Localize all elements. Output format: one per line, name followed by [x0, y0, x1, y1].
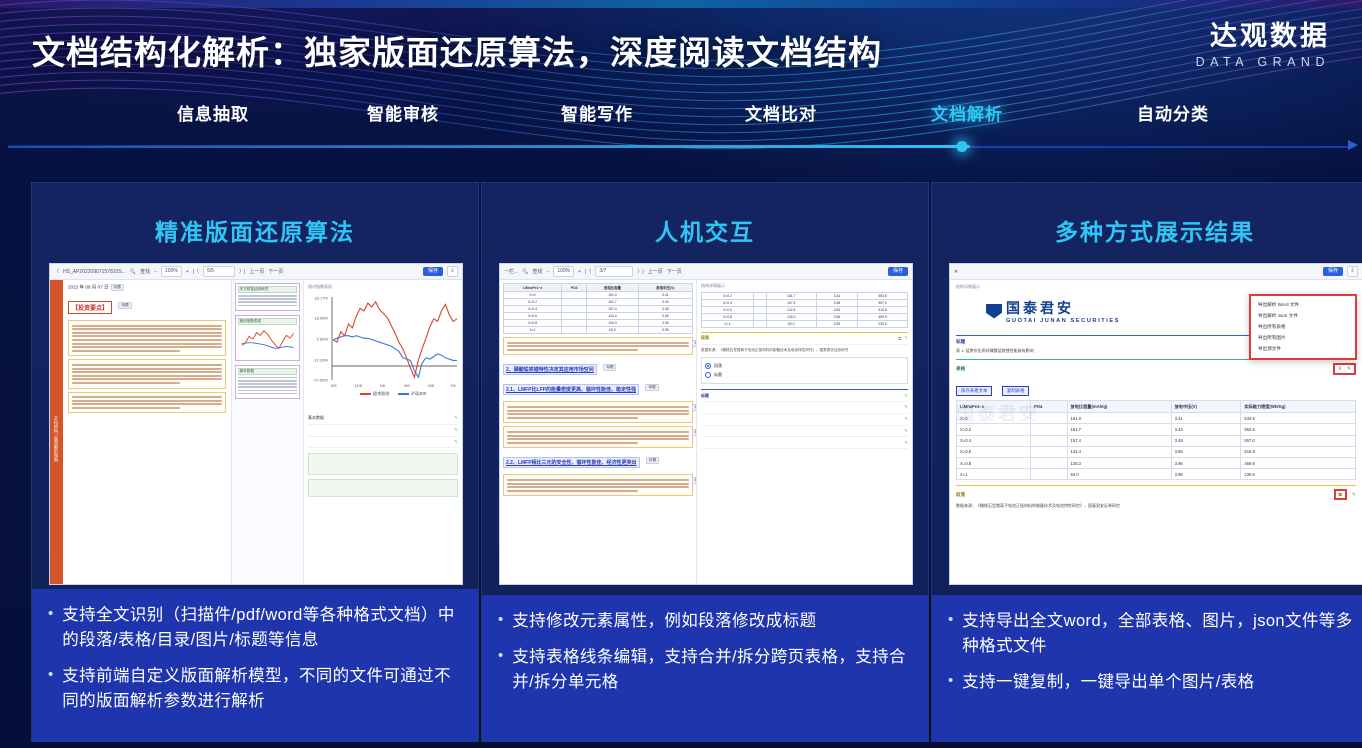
x-tick-3: 3/6 — [404, 383, 410, 388]
section-paragraph-body: 数据来源：《橄榄石型锂离子电池正极材料的制备技术及电池特性研究》，国泰君安证券研… — [956, 503, 1356, 509]
feature-card-3: 多种方式展示结果 ✕ 保存 ⇩ 国泰君安 结构详情展示 国泰君安 GUOTAI … — [931, 182, 1362, 742]
zoom-level-select[interactable]: 100% — [161, 266, 182, 277]
first-page-button[interactable]: |〈 — [193, 268, 199, 275]
bullet-dot-icon: • — [48, 664, 53, 714]
table-row[interactable]: X=0161.03.41534.9 — [957, 413, 1356, 424]
download-icon[interactable]: ⇩ — [1347, 266, 1358, 277]
card-2-screenshot: 一栏... 🔍 查找 − 100% + |〈 3/7 〉| 上一页 下一页 保存… — [499, 263, 913, 585]
element-tag-title[interactable]: 标题 — [111, 284, 124, 291]
result-row-2[interactable]: ✎ — [308, 425, 458, 437]
search-label[interactable]: 查找 — [140, 268, 150, 275]
table-cell-3-1 — [1030, 446, 1067, 457]
x-tick-4: 5/6 — [428, 383, 434, 388]
document-editor-panel: LiMnxFe1−xPO4放电比容量放电中压(V) X=0161.03.41 X… — [500, 280, 697, 585]
document-page-panel: 2022 年 09 月 07 日标题 【投资要点】 标题 — [63, 280, 232, 585]
next-page-button[interactable]: 下一页 — [268, 268, 283, 275]
structure-mini-table[interactable]: X=0.2161.73.44553.5 X=0.4157.43.48557.0 … — [701, 292, 908, 328]
section-table-label: 表格 — [956, 366, 965, 372]
element-tag-title-2[interactable]: 标题 — [118, 302, 131, 309]
table-cell-1-2: 161.7 — [1067, 424, 1171, 435]
table-cell-1-0: X=0.2 — [957, 424, 1031, 435]
table-cell-3-0: X=0.6 — [957, 446, 1031, 457]
element-row-6[interactable]: ✎ — [701, 426, 908, 438]
research-box-title: 东方财富证券研究 — [238, 286, 297, 293]
relative-index-box[interactable]: 相对指数表现 — [235, 315, 300, 361]
edit-icon-5[interactable]: ✎ — [904, 428, 908, 434]
result-row-3[interactable]: ✎ — [308, 437, 458, 449]
view-mode-label[interactable]: 一栏... — [504, 268, 518, 275]
card-3-screenshot: ✕ 保存 ⇩ 国泰君安 结构详情展示 国泰君安 GUOTAI JUNAN SEC… — [949, 263, 1362, 585]
page-title: 文档结构化解析：独家版面还原算法，深度阅读文档结构 — [32, 26, 882, 74]
table-cell-0-4: 534.9 — [1241, 413, 1356, 424]
zoom-in-button[interactable]: + — [578, 269, 581, 275]
table-cell-3-3: 3.65 — [1171, 446, 1241, 457]
result-table-col-0: LiMnxFe1−x — [957, 401, 1031, 413]
element-row-7[interactable]: ✎ — [701, 437, 908, 449]
bullet-dot-icon: • — [948, 670, 953, 695]
doc-heading-1[interactable]: 2.1、LMFP比LFP的能量密度更高、循环性能佳、稳定性强 — [503, 384, 639, 395]
doc-paragraph-0[interactable]: 段落 — [503, 337, 693, 355]
table-cell-5-3: 3.95 — [1171, 469, 1241, 480]
result-table-header-row: LiMnxFe1−xPO4放电比容量(mAh/g)放电中压(V)实际能力密度(W… — [957, 401, 1356, 413]
doc-paragraph-3[interactable]: 段落 — [503, 474, 693, 496]
legend-item-1: 沪深300 — [398, 391, 426, 397]
relative-index-title: 相对指数表现 — [238, 318, 297, 325]
structure-result-panel: 相对指数表现 33.17% 18.00% 2.83% -12.33% -27.5… — [304, 280, 462, 585]
table-cell-2-3: 3.48 — [1171, 435, 1241, 446]
brand-cn: 国泰君安 — [1006, 298, 1120, 318]
filename-label: HS_AP20220907157810S... — [63, 269, 126, 275]
basic-data-box[interactable]: 基本数据 — [235, 365, 300, 399]
table-cell-2-4: 557.0 — [1241, 435, 1356, 446]
edit-icon[interactable]: ✎ — [454, 415, 458, 421]
table-cell-3-2: 142.4 — [1067, 446, 1171, 457]
table-cell-0-3: 3.41 — [1171, 413, 1241, 424]
document-mini-table[interactable]: LiMnxFe1−xPO4放电比容量放电中压(V) X=0161.03.41 X… — [503, 283, 693, 334]
menu-item-export-word[interactable]: 导出解析 Word 文件 — [1251, 299, 1355, 310]
radio-option-para[interactable]: 段落 — [705, 363, 904, 369]
result-row-1[interactable]: 基本数据✎ — [308, 413, 458, 425]
card-2-bullet-1: • 支持表格线条编辑，支持合并/拆分跨页表格，支持合并/拆分单元格 — [498, 645, 912, 695]
x-tick-1: 11/6 — [354, 383, 362, 388]
element-row-para[interactable]: 段落 ⧉ ✎ — [701, 332, 908, 345]
table-cell-5-0: X=1 — [957, 469, 1031, 480]
element-type-radio-group[interactable]: 段落 标题 — [701, 357, 908, 385]
card-2-bullets: • 支持修改元素属性，例如段落修改成标题 • 支持表格线条编辑，支持合并/拆分跨… — [482, 595, 928, 741]
table-cell-1-4: 553.5 — [1241, 424, 1356, 435]
table-cell-2-2: 157.4 — [1067, 435, 1171, 446]
edit-icon-6[interactable]: ✎ — [904, 440, 908, 446]
result-table-col-2: 放电比容量(mAh/g) — [1067, 401, 1171, 413]
timeline-active-dot[interactable] — [957, 141, 968, 152]
zoom-out-button[interactable]: − — [154, 269, 157, 275]
table-cell-4-2: 126.3 — [1067, 457, 1171, 468]
element-tag-heading-3[interactable]: 标题 — [646, 457, 659, 464]
edit-icon-3[interactable]: ✎ — [454, 439, 458, 445]
structure-panel-label-2: 结构详情展示 — [701, 283, 908, 289]
timeline-arrow-icon — [1348, 140, 1358, 150]
nav-item-4-active[interactable]: 文档解析 — [931, 100, 1003, 125]
radio-dot-icon-on — [705, 363, 711, 369]
slide-root: 文档结构化解析：独家版面还原算法，深度阅读文档结构 达观数据 DATA GRAN… — [0, 0, 1362, 748]
table-row[interactable]: X=0.8126.33.96459.9 — [957, 457, 1356, 468]
document-date: 2022 年 09 月 07 日标题 — [68, 284, 226, 291]
table-cell-4-1 — [1030, 457, 1067, 468]
card-1-toolbar: 〈 HS_AP20220907157810S... 🔍 查找 − 100% + … — [50, 264, 462, 280]
nav-item-1[interactable]: 智能审核 — [367, 100, 439, 125]
table-action-redbox[interactable]: ⇩ ✎ — [1333, 363, 1356, 375]
element-tag-heading-2[interactable]: 标题 — [645, 384, 658, 391]
card-2-bullet-0: • 支持修改元素属性，例如段落修改成标题 — [498, 609, 912, 634]
mini-sparkline-chart — [238, 327, 297, 353]
copy-paragraph-icon[interactable]: ⧉ — [1339, 492, 1342, 497]
x-tick-0: 9/6 — [331, 383, 337, 388]
y-tick-4: -27.50% — [313, 378, 328, 383]
table-row[interactable]: X=163.03.95230.6 — [957, 469, 1356, 480]
zoom-level-select[interactable]: 100% — [553, 266, 574, 277]
legend-item-0: 银木股份 — [360, 391, 390, 397]
result-green-block-2 — [308, 479, 458, 497]
structure-panel-label-3: 结构详情展示 — [956, 284, 1356, 290]
y-tick-2: 2.83% — [317, 337, 328, 342]
chart-legend: 银木股份 沪深300 — [328, 391, 458, 397]
export-dropdown-menu[interactable]: 导出解析 Word 文件 导出解析 Json 文件 导出所有表格 导出所有图片 … — [1249, 294, 1357, 360]
investment-highlight: 【投资要点】 — [68, 301, 112, 314]
card-1-bullet-1: • 支持前端自定义版面解析模型，不同的文件可通过不同的版面解析参数进行解析 — [48, 664, 462, 714]
nav-item-2[interactable]: 智能写作 — [561, 100, 633, 125]
card-2-toolbar: 一栏... 🔍 查找 − 100% + |〈 3/7 〉| 上一页 下一页 保存 — [500, 264, 912, 280]
document-outline-rail[interactable]: 文档结构 / 版面解析视图 — [50, 280, 63, 585]
bullet-dot-icon: • — [498, 609, 503, 634]
card-2-title: 人机交互 — [482, 213, 928, 247]
structure-detail-panel: 结构详情展示 X=0.2161.73.44553.5 X=0.4157.43.4… — [697, 280, 912, 585]
paragraph-block-2[interactable] — [68, 359, 226, 388]
card-1-bullet-0: • 支持全文识别（扫描件/pdf/word等各种格式文档）中的段落/表格/目录/… — [48, 603, 462, 653]
save-button[interactable]: 保存 — [888, 267, 908, 276]
result-table-col-3: 放电中压(V) — [1171, 401, 1241, 413]
first-page-button[interactable]: |〈 — [585, 268, 591, 275]
nav-item-0[interactable]: 信息抽取 — [177, 100, 249, 125]
table-row[interactable]: X=0.2161.73.44553.5 — [957, 424, 1356, 435]
card-3-toolbar: ✕ 保存 ⇩ — [950, 264, 1362, 280]
header-glow-strip — [0, 0, 1362, 8]
bullet-dot-icon: • — [498, 645, 503, 695]
result-green-block — [308, 453, 458, 475]
element-row-title[interactable]: 标题 ✎ — [701, 389, 908, 402]
result-table[interactable]: LiMnxFe1−xPO4放电比容量(mAh/g)放电中压(V)实际能力密度(W… — [956, 400, 1356, 480]
table-row[interactable]: X=0.6142.43.65515.8 — [957, 446, 1356, 457]
section-paragraph-header: 段落 ⧉ ✎ — [956, 489, 1356, 500]
page-indicator[interactable]: 3/7 — [595, 266, 633, 277]
table-cell-4-0: X=0.8 — [957, 457, 1031, 468]
element-tag-heading[interactable]: 标题 — [603, 364, 616, 371]
basic-data-title: 基本数据 — [238, 368, 297, 375]
brand-logo-cn: 达观数据 — [1196, 22, 1330, 52]
table-cell-4-3: 3.96 — [1171, 457, 1241, 468]
doc-heading-2[interactable]: 2.2、LMFP相比三元的安全性、循环性能佳、经济性更突出 — [503, 457, 640, 468]
edit-icon-3[interactable]: ✎ — [904, 404, 908, 410]
relative-performance-chart: 33.17% 18.00% 2.83% -12.33% -27.50% — [330, 296, 458, 382]
structure-panel-label: 相对指数表现 — [308, 284, 458, 290]
element-row-5[interactable]: ✎ — [701, 414, 908, 426]
menu-item-export-json[interactable]: 导出解析 Json 文件 — [1251, 310, 1355, 321]
section-table-header: 表格 ⇩ ✎ — [956, 363, 1356, 375]
brand-logo: 达观数据 DATA GRAND — [1196, 22, 1330, 69]
search-label[interactable]: 查找 — [532, 268, 542, 275]
element-row-4[interactable]: ✎ — [701, 402, 908, 414]
doc-heading-0[interactable]: 2、磷酸锰铁锂特性决定其应用市场空间 — [503, 364, 597, 375]
bullet-dot-icon: • — [48, 603, 53, 653]
edit-paragraph-icon[interactable]: ✎ — [1352, 492, 1356, 497]
card-3-bullet-1: • 支持一键复制，一键导出单个图片/表格 — [948, 670, 1362, 695]
edit-icon-4[interactable]: ✎ — [904, 416, 908, 422]
doc-paragraph-2[interactable]: 段落 — [503, 426, 693, 448]
last-page-button[interactable]: 〉| — [239, 268, 245, 275]
x-tick-5: 7/6 — [450, 383, 456, 388]
feature-card-2: 人机交互 一栏... 🔍 查找 − 100% + |〈 3/7 〉| 上一页 下… — [481, 182, 929, 742]
chart-plot-area — [330, 296, 458, 382]
section-paragraph: 段落 ⧉ ✎ 数据来源：《橄榄石型锂离子电池正极材料的制备技术及电池特性研究》，… — [956, 485, 1356, 509]
research-info-box[interactable]: 东方财富证券研究 — [235, 283, 300, 311]
card-3-body: 国泰君安 结构详情展示 国泰君安 GUOTAI JUNAN SECURITIES… — [950, 280, 1362, 585]
table-cell-0-1 — [1030, 413, 1067, 424]
element-row-para-body: 数据来源：《橄榄石型锂离子电池正极材料的制备技术及电池特性研究》，国泰君安证券研… — [701, 348, 908, 353]
table-cell-5-4: 230.6 — [1241, 469, 1356, 480]
table-cell-1-1 — [1030, 424, 1067, 435]
edit-table-icon[interactable]: ✎ — [1347, 366, 1351, 372]
doc-paragraph-1[interactable]: 段落 — [503, 401, 693, 423]
table-cell-0-0: X=0 — [957, 413, 1031, 424]
save-button[interactable]: 保存 — [1323, 267, 1343, 276]
shield-icon — [986, 304, 1002, 319]
table-cell-2-1 — [1030, 435, 1067, 446]
close-icon[interactable]: ✕ — [954, 269, 958, 275]
copy-icon[interactable]: ⧉ — [898, 336, 901, 341]
menu-item-export-source[interactable]: 导出源文件 — [1251, 344, 1355, 355]
paragraph-block-3[interactable] — [68, 392, 226, 414]
card-3-title: 多种方式展示结果 — [932, 213, 1362, 247]
back-icon[interactable]: 〈 — [54, 268, 59, 275]
timeline-axis-progress — [8, 145, 970, 148]
card-2-body: LiMnxFe1−xPO4放电比容量放电中压(V) X=0161.03.41 X… — [500, 280, 912, 585]
page-indicator[interactable]: 5/5 — [203, 266, 235, 277]
brand-logo-en: DATA GRAND — [1196, 55, 1330, 69]
radio-dot-icon — [705, 372, 711, 378]
card-1-bullets: • 支持全文识别（扫描件/pdf/word等各种格式文档）中的段落/表格/目录/… — [32, 589, 478, 741]
table-cell-2-0: X=0.4 — [957, 435, 1031, 446]
copy-table-button[interactable]: 复制表格 — [1002, 386, 1030, 396]
next-page-button[interactable]: 下一页 — [667, 268, 682, 275]
paragraph-block-1[interactable] — [68, 320, 226, 356]
nav-item-5[interactable]: 自动分类 — [1137, 100, 1209, 125]
prev-page-button[interactable]: 上一页 — [249, 268, 264, 275]
edit-icon-2[interactable]: ✎ — [454, 427, 458, 433]
table-cell-0-2: 161.0 — [1067, 413, 1171, 424]
card-1-title: 精准版面还原算法 — [32, 213, 478, 247]
download-table-icon[interactable]: ⇩ — [1338, 366, 1342, 372]
table-cell-5-2: 63.0 — [1067, 469, 1171, 480]
radio-option-title[interactable]: 标题 — [705, 372, 904, 378]
section-paragraph-label: 段落 — [956, 492, 965, 498]
y-tick-3: -12.33% — [313, 357, 328, 362]
save-table-text-button[interactable]: 保存表格文本 — [956, 386, 992, 396]
result-table-col-4: 实际能力密度(Wh/Kg) — [1241, 401, 1356, 413]
result-table-col-1: PO4 — [1030, 401, 1067, 413]
zoom-out-button[interactable]: − — [546, 269, 549, 275]
menu-item-export-images[interactable]: 导出所有图片 — [1251, 333, 1355, 344]
document-sidebar-panel: 东方财富证券研究 相对指数表现 基本数据 — [232, 280, 304, 585]
table-cell-5-1 — [1030, 469, 1067, 480]
save-button[interactable]: 保存 — [423, 267, 443, 276]
card-1-body: 文档结构 / 版面解析视图 2022 年 09 月 07 日标题 【投资要点】 … — [50, 280, 462, 585]
download-icon[interactable]: ⇩ — [447, 266, 458, 277]
y-tick-0: 33.17% — [314, 295, 328, 300]
search-icon[interactable]: 🔍 — [522, 269, 528, 275]
table-row[interactable]: X=0.4157.43.48557.0 — [957, 435, 1356, 446]
table-cell-1-3: 3.44 — [1171, 424, 1241, 435]
y-tick-1: 18.00% — [314, 316, 328, 321]
search-icon[interactable]: 🔍 — [130, 269, 136, 275]
card-1-screenshot: 〈 HS_AP20220907157810S... 🔍 查找 − 100% + … — [49, 263, 463, 585]
prev-page-button[interactable]: 上一页 — [648, 268, 663, 275]
paragraph-action-redbox[interactable]: ⧉ — [1334, 489, 1347, 500]
zoom-in-button[interactable]: + — [186, 269, 189, 275]
edit-icon[interactable]: ✎ — [904, 335, 908, 341]
table-cell-4-4: 459.9 — [1241, 457, 1356, 468]
feature-card-1: 精准版面还原算法 〈 HS_AP20220907157810S... 🔍 查找 … — [31, 182, 479, 742]
table-cell-3-4: 515.8 — [1241, 446, 1356, 457]
nav-item-3[interactable]: 文档比对 — [745, 100, 817, 125]
result-table-body: X=0161.03.41534.9X=0.2161.73.44553.5X=0.… — [957, 413, 1356, 480]
x-tick-2: 1/6 — [380, 383, 386, 388]
last-page-button[interactable]: 〉| — [637, 268, 643, 275]
card-3-bullet-0: • 支持导出全文word，全部表格、图片，json文件等多种格式文件 — [948, 609, 1362, 659]
card-3-bullets: • 支持导出全文word，全部表格、图片，json文件等多种格式文件 • 支持一… — [932, 595, 1362, 741]
brand-en: GUOTAI JUNAN SECURITIES — [1006, 318, 1120, 324]
bullet-dot-icon: • — [948, 609, 953, 659]
menu-item-export-tables[interactable]: 导出所有表格 — [1251, 321, 1355, 332]
section-table: 表格 ⇩ ✎ 保存表格文本 复制表格 LiMnxFe1−xPO4 — [956, 359, 1356, 480]
edit-icon-2[interactable]: ✎ — [904, 393, 908, 399]
